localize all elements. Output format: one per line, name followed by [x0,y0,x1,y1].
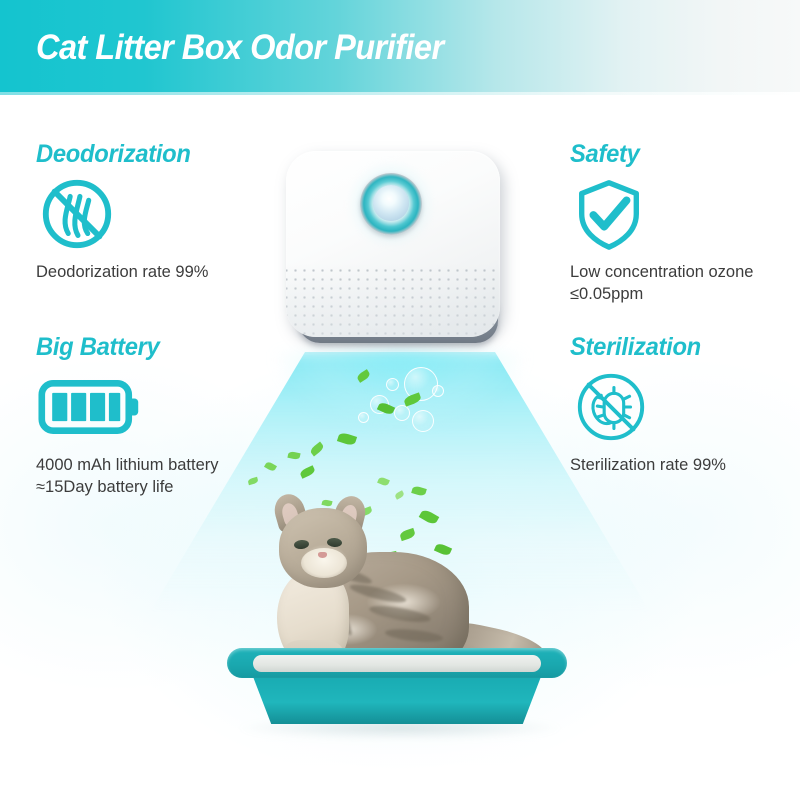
page-title: Cat Litter Box Odor Purifier [36,28,444,68]
power-button[interactable] [360,173,422,235]
cat-litter-scene [205,500,595,780]
feature-title: Deodorization [36,140,274,169]
feature-deodorization: Deodorization Deodorization rate 99% [36,140,286,283]
feature-safety: Safety Low concentration ozone ≤0.05ppm [570,140,800,305]
no-odor-icon [38,175,116,253]
leaf-icon [309,442,325,457]
litter-box-interior [253,655,541,672]
feature-description: 4000 mAh lithium battery ≈15Day battery … [36,454,286,498]
feature-description: Low concentration ozone ≤0.05ppm [570,261,800,305]
bubble-small [386,378,399,391]
shield-check-icon [570,175,648,253]
no-bacteria-icon [572,368,650,446]
feature-title: Big Battery [36,333,274,362]
feature-title: Sterilization [570,333,800,362]
feature-description: Deodorization rate 99% [36,261,286,283]
leaf-icon [356,369,371,383]
power-button-core [373,185,409,221]
uv-light-beam-core [240,352,560,502]
bubble-small [432,385,444,397]
litter-box [227,648,567,726]
leaf-icon [377,476,390,487]
feature-sterilization: Sterilization Sterilization rate 99% [570,333,800,476]
device-body [286,151,500,337]
header-underline [0,92,800,95]
leaf-icon [337,431,357,446]
odor-purifier-device [278,145,518,360]
feature-description: Sterilization rate 99% [570,454,800,476]
battery-full-icon [38,368,142,446]
leaf-icon [403,392,422,406]
leaf-icon [394,490,405,500]
feature-title: Safety [570,140,800,169]
leaf-icon [299,465,316,479]
product-infographic: Cat Litter Box Odor Purifier [0,0,800,800]
bubble-medium [412,410,434,432]
leaf-icon [411,485,427,497]
bubble-small [358,412,369,423]
leaf-icon [287,451,300,460]
cat-nose [318,552,327,558]
device-vent-shading [286,263,500,337]
feature-big-battery: Big Battery 4000 mAh lithium battery ≈15… [36,333,286,498]
bubble-small [394,405,410,421]
